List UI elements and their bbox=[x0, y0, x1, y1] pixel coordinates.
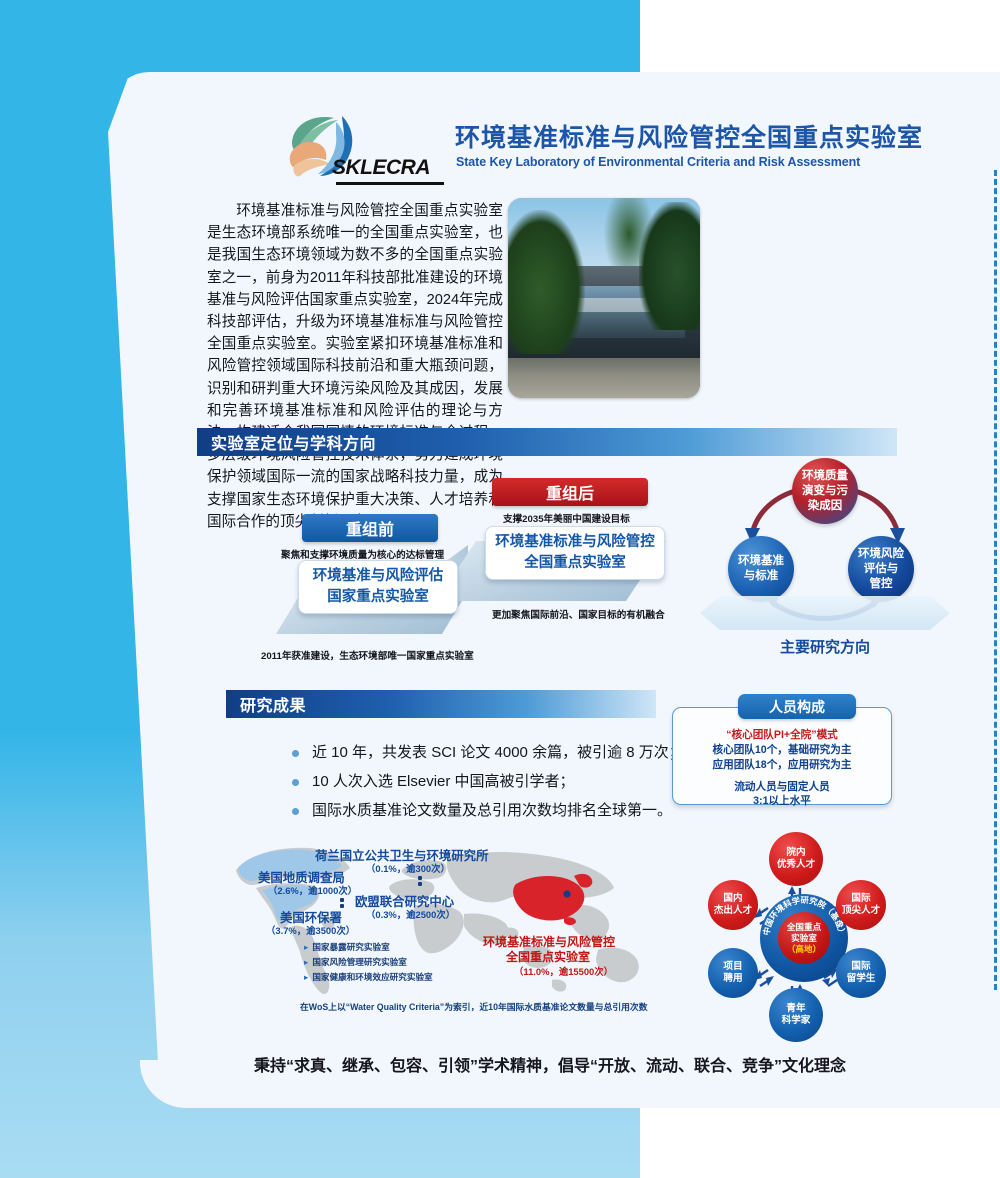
map-label-china-stat: （11.0%，逾15500次） bbox=[514, 964, 613, 978]
direction-right-line2: 评估与 bbox=[858, 562, 904, 577]
direction-circle-criteria: 环境基准 与标准 bbox=[728, 536, 794, 602]
talent-core-line1: 全国重点 bbox=[787, 922, 821, 933]
direction-title: 主要研究方向 bbox=[700, 636, 950, 657]
personnel-line-1: “核心团队PI+全院”模式 bbox=[672, 727, 892, 742]
logo-underline bbox=[336, 182, 444, 185]
tag-before-label: 重组前 bbox=[346, 516, 394, 540]
card-after-line1: 环境基准标准与风险管控 bbox=[495, 532, 655, 553]
map-pin-rivm bbox=[418, 876, 422, 880]
map-label-jrc-stat: （0.3%，逾2500次） bbox=[366, 907, 455, 921]
talent-node-intl-students: 国际 留学生 bbox=[836, 948, 886, 998]
personnel-tab: 人员构成 bbox=[738, 694, 856, 719]
lab-logo: SKLECRA bbox=[276, 112, 446, 190]
section-header-achievements: 研究成果 bbox=[226, 690, 656, 718]
lab-title-english: State Key Laboratory of Environmental Cr… bbox=[456, 155, 860, 169]
talent-node-young-scientists-line1: 青年 bbox=[786, 1003, 805, 1015]
talent-node-international-top-line2: 顶尖人才 bbox=[842, 905, 880, 917]
caption-after-secondary: 更加聚焦国际前沿、国家目标的有机融合 bbox=[492, 607, 665, 621]
logo-wordmark: SKLECRA bbox=[332, 156, 430, 180]
card-after-line2: 全国重点实验室 bbox=[524, 553, 626, 574]
map-pin-jrc bbox=[418, 882, 422, 886]
direction-top-line1: 环境质量 bbox=[802, 469, 848, 484]
talent-node-domestic: 国内 杰出人才 bbox=[708, 880, 758, 930]
direction-circle-risk: 环境风险 评估与 管控 bbox=[848, 536, 914, 602]
talent-node-project-hire: 项目 聘用 bbox=[708, 948, 758, 998]
talent-node-domestic-line2: 杰出人才 bbox=[714, 905, 752, 917]
laboratory-building-photo bbox=[508, 198, 700, 398]
footnote-2011: 2011年获准建设，生态环境部唯一国家重点实验室 bbox=[261, 648, 474, 662]
world-map: 美国地质调查局 （2.6%，逾1000次） 美国环保署 （3.7%，逾3500次… bbox=[218, 828, 658, 1013]
talent-core: 全国重点 实验室 （高地） bbox=[778, 912, 830, 964]
talent-structure-diagram: 中国环境科学研究院（基盘）职工+学生 全国重点 实验室 （高地） 院内 优秀人才… bbox=[650, 830, 950, 1030]
talent-node-project-hire-line1: 项目 bbox=[723, 961, 742, 973]
sublab-health: 国家健康和环境效应研究实验室 bbox=[304, 971, 433, 983]
section-header-positioning-label: 实验室定位与学科方向 bbox=[211, 430, 376, 454]
talent-node-project-hire-line2: 聘用 bbox=[723, 973, 742, 985]
sublab-exposure: 国家暴露研究实验室 bbox=[304, 941, 390, 953]
bottom-slogan: 秉持“求真、继承、包容、引领”学术精神，倡导“开放、流动、联合、竞争”文化理念 bbox=[0, 1052, 1000, 1076]
tag-after-restructure: 重组后 bbox=[492, 478, 648, 506]
lab-title-chinese: 环境基准标准与风险管控全国重点实验室 bbox=[455, 118, 923, 154]
tag-after-label: 重组后 bbox=[546, 480, 594, 504]
direction-right-line3: 管控 bbox=[858, 577, 904, 592]
map-label-rivm-stat: （0.1%，逾300次） bbox=[366, 861, 450, 875]
sublab-risk: 国家风险管理研究实验室 bbox=[304, 956, 407, 968]
talent-node-young-scientists-line2: 科学家 bbox=[782, 1015, 811, 1027]
direction-circle-quality: 环境质量 演变与污 染成因 bbox=[792, 458, 858, 524]
personnel-tab-label: 人员构成 bbox=[769, 697, 825, 717]
map-footnote: 在WoS上以“Water Quality Criteria”为索引，近10年国际… bbox=[300, 1000, 648, 1013]
card-before-restructure: 环境基准与风险评估 国家重点实验室 bbox=[298, 560, 458, 614]
talent-core-line2: 实验室 bbox=[791, 933, 817, 944]
research-directions-diagram: 环境质量 演变与污 染成因 环境基准 与标准 环境风险 评估与 管控 主要研究方… bbox=[700, 450, 950, 680]
map-pin-usgs bbox=[340, 898, 344, 902]
direction-top-line3: 染成因 bbox=[802, 499, 848, 514]
personnel-line-3: 应用团队18个，应用研究为主 bbox=[672, 757, 892, 772]
card-after-restructure: 环境基准标准与风险管控 全国重点实验室 bbox=[485, 526, 665, 580]
personnel-line-5: 3:1以上水平 bbox=[672, 793, 892, 808]
talent-node-internal: 院内 优秀人才 bbox=[769, 832, 823, 886]
caption-after: 支撑2035年美丽中国建设目标 bbox=[503, 511, 630, 525]
caption-before: 聚焦和支撑环境质量为核心的达标管理 bbox=[281, 547, 444, 561]
talent-node-young-scientists: 青年 科学家 bbox=[769, 988, 823, 1042]
section-header-achievements-label: 研究成果 bbox=[240, 692, 306, 716]
intro-paragraph: 环境基准标准与风险管控全国重点实验室是生态环境部系统唯一的全国重点实验室，也是我… bbox=[207, 200, 503, 533]
talent-core-line3: （高地） bbox=[787, 944, 821, 955]
direction-left-line2: 与标准 bbox=[738, 569, 784, 584]
direction-base-plate bbox=[700, 596, 950, 630]
talent-node-international-top: 国际 顶尖人才 bbox=[836, 880, 886, 930]
talent-node-domestic-line1: 国内 bbox=[723, 893, 742, 905]
tag-before-restructure: 重组前 bbox=[302, 514, 438, 542]
direction-right-line1: 环境风险 bbox=[858, 547, 904, 562]
map-label-usgs-stat: （2.6%，逾1000次） bbox=[268, 883, 357, 897]
direction-top-line2: 演变与污 bbox=[802, 484, 848, 499]
direction-left-line1: 环境基准 bbox=[738, 554, 784, 569]
card-before-line1: 环境基准与风险评估 bbox=[313, 566, 444, 587]
talent-node-international-top-line1: 国际 bbox=[851, 893, 870, 905]
card-before-line2: 国家重点实验室 bbox=[327, 587, 429, 608]
personnel-line-2: 核心团队10个，基础研究为主 bbox=[672, 742, 892, 757]
talent-node-internal-line1: 院内 bbox=[786, 847, 805, 859]
talent-node-intl-students-line2: 留学生 bbox=[847, 973, 876, 985]
map-label-epa-stat: （3.7%，逾3500次） bbox=[266, 923, 355, 937]
talent-node-internal-line2: 优秀人才 bbox=[777, 859, 815, 871]
map-label-china-line2: 全国重点实验室 bbox=[506, 948, 590, 965]
personnel-line-4: 流动人员与固定人员 bbox=[672, 779, 892, 794]
talent-node-intl-students-line1: 国际 bbox=[851, 961, 870, 973]
